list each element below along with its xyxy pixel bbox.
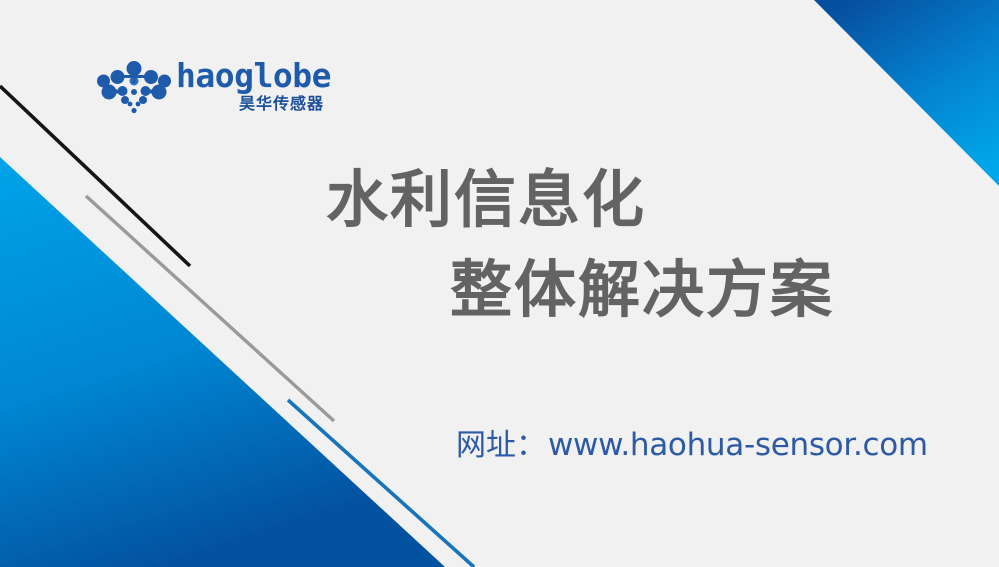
title-line-1: 水利信息化 <box>320 163 920 237</box>
website-url[interactable]: www.haohua-sensor.com <box>548 427 928 463</box>
company-logo: haoglobe 昊华传感器 <box>96 57 326 123</box>
title-line-2: 整体解决方案 <box>320 253 920 327</box>
logo-subtitle: 昊华传感器 <box>176 94 324 114</box>
haoglobe-dot-cluster-icon <box>96 61 172 115</box>
logo-text-group: haoglobe 昊华传感器 <box>176 57 326 114</box>
page-title: 水利信息化 整体解决方案 <box>320 163 920 327</box>
logo-wordmark: haoglobe <box>176 57 326 95</box>
website-label: 网址： <box>456 428 546 463</box>
presentation-title-slide: haoglobe 昊华传感器 水利信息化 整体解决方案 网址：www.haohu… <box>0 0 999 567</box>
website-line: 网址：www.haohua-sensor.com <box>456 420 928 464</box>
